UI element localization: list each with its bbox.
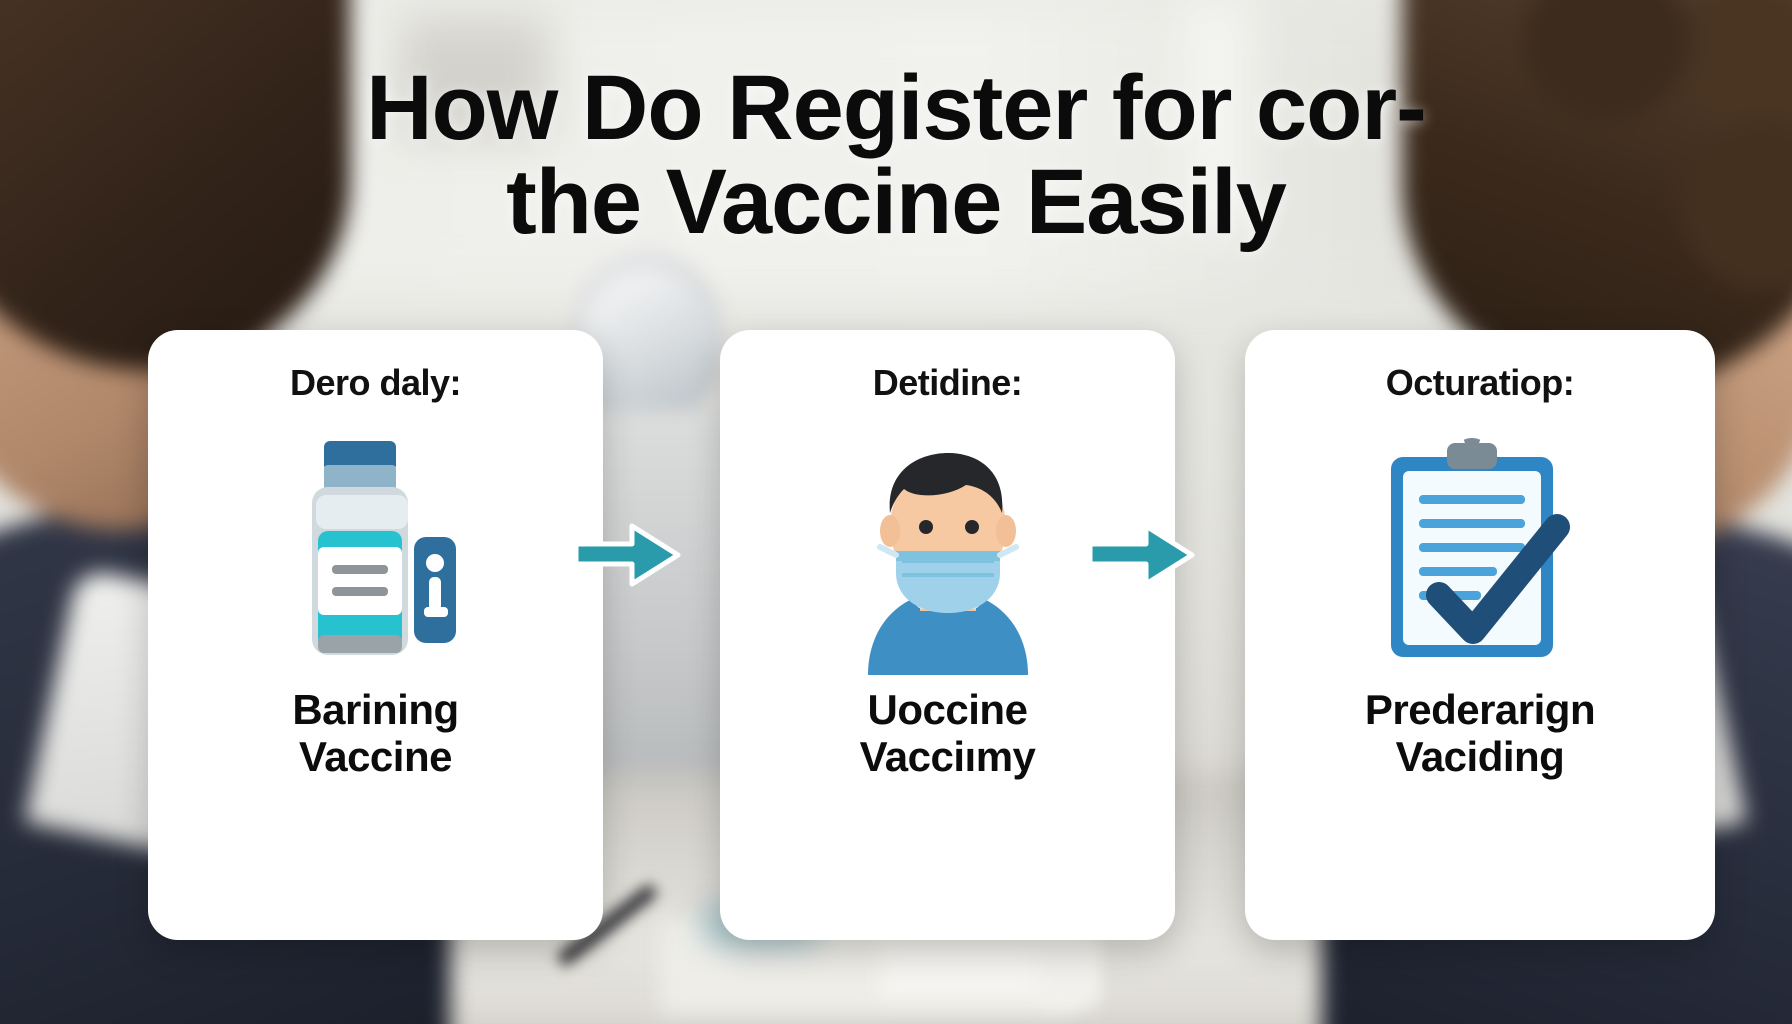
step-card-3-caption-line-1: Prederarign	[1365, 686, 1595, 733]
arrow-right-2	[1086, 520, 1196, 590]
clipboard-checkmark-icon	[1365, 430, 1595, 680]
step-card-2-header: Detidine:	[873, 362, 1023, 404]
poster-canvas: How Do Register for cor- the Vaccine Eas…	[0, 0, 1792, 1024]
step-card-1[interactable]: Dero daly:	[148, 330, 603, 940]
step-card-3-caption: Prederarign Vaciding	[1365, 686, 1595, 780]
masked-person-icon	[828, 430, 1068, 680]
title-line-1: How Do Register for cor-	[366, 57, 1426, 159]
step-card-3[interactable]: Octuratiop:	[1245, 330, 1715, 940]
title-line-2: the Vaccine Easily	[120, 156, 1672, 250]
step-card-2-caption-line-2: Vacciımy	[860, 733, 1036, 780]
step-card-3-caption-line-2: Vaciding	[1396, 733, 1565, 780]
steps-row: Dero daly:	[0, 330, 1792, 950]
step-card-1-caption-line-1: Barining	[292, 686, 458, 733]
step-card-2-caption: Uoccine Vacciımy	[860, 686, 1036, 780]
step-card-2-caption-line-1: Uoccine	[868, 686, 1028, 733]
step-card-2[interactable]: Detidine:	[720, 330, 1175, 940]
step-card-1-caption-line-2: Vaccine	[299, 733, 452, 780]
arrow-right-1	[572, 520, 682, 590]
poster-title: How Do Register for cor- the Vaccine Eas…	[0, 62, 1792, 250]
step-card-1-caption: Barining Vaccine	[292, 686, 458, 780]
step-card-1-header: Dero daly:	[290, 362, 461, 404]
vaccine-vial-icon	[266, 430, 486, 680]
step-card-3-header: Octuratiop:	[1386, 362, 1575, 404]
